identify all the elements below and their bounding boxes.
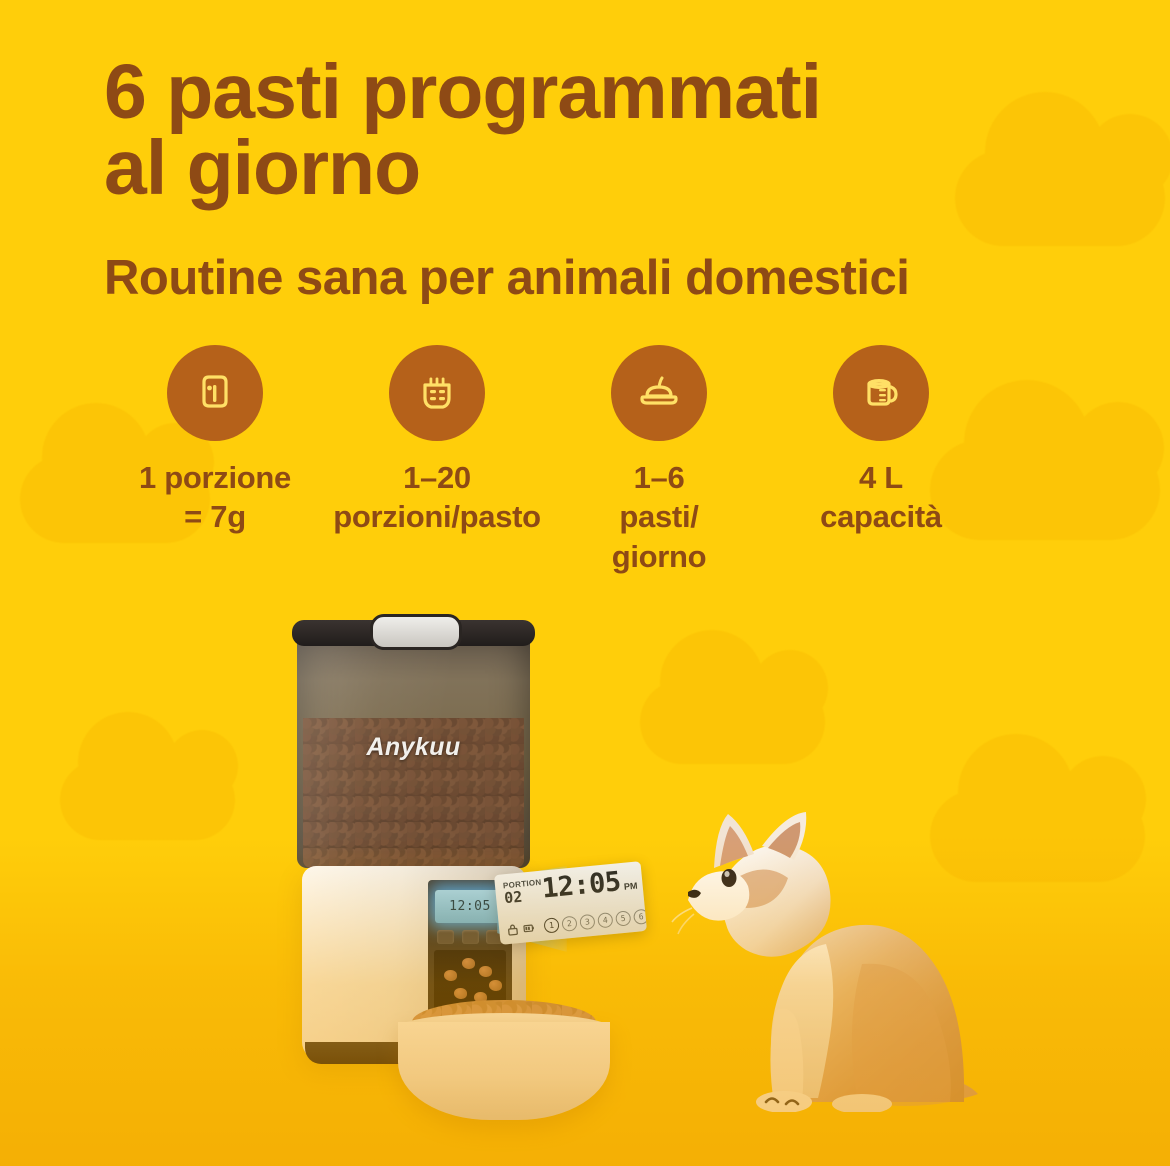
lcd-callout: PORTION 02 12:05 PM xyxy=(494,861,647,945)
lcd-time-group: 12:05 PM xyxy=(541,869,638,903)
device-screen: 12:05 xyxy=(435,890,505,923)
device-button-manual[interactable] xyxy=(462,930,479,944)
lcd-meal-slot: 5 xyxy=(615,910,631,926)
battery-icon xyxy=(523,921,535,934)
lcd-meal-slot: 3 xyxy=(579,914,595,930)
lock-icon xyxy=(507,923,519,936)
kibble-piece xyxy=(462,958,475,969)
lcd-meal-slot: 6 xyxy=(633,909,647,925)
device-button-set[interactable] xyxy=(437,930,454,944)
device-buttons[interactable] xyxy=(437,930,503,944)
kibble-piece xyxy=(489,980,502,991)
lcd-time-value: 12:05 xyxy=(541,870,622,902)
lcd-meal-slot: 1 xyxy=(543,917,559,933)
cat-photo xyxy=(666,772,996,1112)
lcd-portion-value: 02 xyxy=(504,888,544,907)
product-poster: 6 pasti programmati al giorno Routine sa… xyxy=(0,0,1170,1166)
lcd-meal-slots: 1 2 3 4 5 6 xyxy=(543,909,647,934)
hopper-lid-knob xyxy=(370,614,462,650)
lcd-meridiem: PM xyxy=(624,881,638,892)
kibble-piece xyxy=(454,988,467,999)
brand-logo: Anykuu xyxy=(297,733,530,762)
lcd-meal-slot: 2 xyxy=(561,916,577,932)
pet-bowl xyxy=(398,1022,610,1120)
lcd-portion-group: PORTION 02 xyxy=(503,878,544,907)
kibble-piece xyxy=(444,970,457,981)
product-photo: Anykuu 12:05 xyxy=(0,0,1170,1166)
kibble-piece xyxy=(479,966,492,977)
lcd-meal-slot: 4 xyxy=(597,912,613,928)
